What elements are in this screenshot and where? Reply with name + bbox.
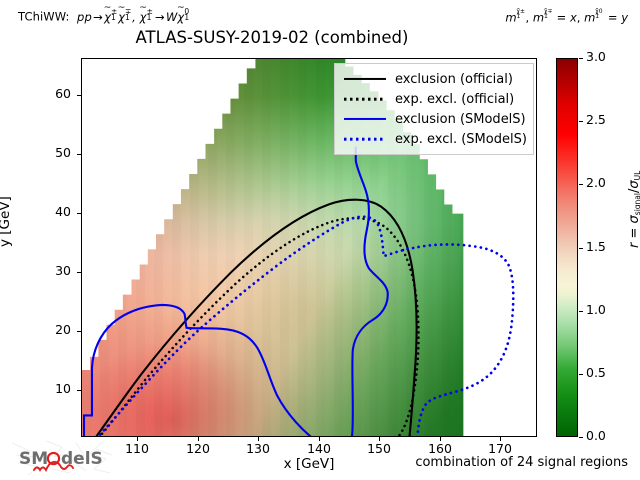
x-tick-label: 160 bbox=[428, 441, 452, 456]
legend: exclusion (official) exp. excl. (officia… bbox=[334, 63, 534, 155]
curve-exclusion-smodels bbox=[84, 147, 388, 437]
legend-key-solid-blue bbox=[342, 113, 388, 125]
colorbar-tick-label: 1.5 bbox=[586, 239, 606, 254]
legend-key-dotted-blue bbox=[342, 133, 388, 145]
legend-item-exp-excl-official: exp. excl. (official) bbox=[342, 89, 526, 109]
x-tick-label: 130 bbox=[246, 441, 270, 456]
legend-item-exclusion-official: exclusion (official) bbox=[342, 69, 526, 89]
y-tick-label: 10 bbox=[55, 381, 71, 396]
x-tick-label: 150 bbox=[367, 441, 391, 456]
process-prefix: TChiWW: bbox=[18, 10, 70, 24]
legend-label: exclusion (SModelS) bbox=[395, 112, 526, 127]
x-tick-label: 140 bbox=[307, 441, 331, 456]
colorbar-gradient bbox=[557, 59, 577, 436]
x-tick-label: 120 bbox=[186, 441, 210, 456]
colorbar bbox=[556, 58, 578, 437]
y-tick-label: 60 bbox=[55, 86, 71, 101]
process-annotation: TChiWW: pp → ~χ±1~χ∓1, ~χ±1 → W~χ01 bbox=[18, 9, 191, 24]
smodels-logo: SM delS bbox=[6, 437, 126, 477]
colorbar-tick-label: 3.0 bbox=[586, 49, 606, 64]
page-title: ATLAS-SUSY-2019-02 (combined) bbox=[0, 28, 640, 47]
colorbar-tick-label: 0.0 bbox=[586, 428, 606, 443]
colorbar-title: r = σsignal/σUL bbox=[627, 171, 640, 248]
legend-item-exp-excl-smodels: exp. excl. (SModelS) bbox=[342, 129, 526, 149]
colorbar-tick-label: 2.0 bbox=[586, 175, 606, 190]
y-axis-title: y [GeV] bbox=[0, 196, 13, 247]
curve-exp-excl-smodels bbox=[85, 217, 513, 437]
y-tick-label: 20 bbox=[55, 322, 71, 337]
y-tick-label: 50 bbox=[55, 145, 71, 160]
legend-label: exp. excl. (SModelS) bbox=[395, 132, 527, 147]
colorbar-tick-label: 1.0 bbox=[586, 302, 606, 317]
mass-assignment-annotation: mχ̃±1, mχ̃∓1 = x, mχ̃01 = y bbox=[505, 10, 628, 25]
curve-exclusion-official bbox=[90, 200, 417, 437]
figure-canvas: TChiWW: pp → ~χ±1~χ∓1, ~χ±1 → W~χ01 mχ̃±… bbox=[0, 0, 640, 480]
process-formula: pp → ~χ±1~χ∓1, ~χ±1 → W~χ01 bbox=[73, 10, 191, 24]
legend-key-dotted-black bbox=[342, 93, 388, 105]
signal-region-caption: combination of 24 signal regions bbox=[415, 455, 628, 470]
colorbar-tick-label: 2.5 bbox=[586, 112, 606, 127]
legend-key-solid-black bbox=[342, 73, 388, 85]
colorbar-tick-label: 0.5 bbox=[586, 365, 606, 380]
x-tick-label: 110 bbox=[125, 441, 149, 456]
y-tick-label: 30 bbox=[55, 263, 71, 278]
legend-label: exclusion (official) bbox=[395, 72, 513, 87]
x-tick-label: 170 bbox=[488, 441, 512, 456]
legend-item-exclusion-smodels: exclusion (SModelS) bbox=[342, 109, 526, 129]
logo-text-sm: SM bbox=[19, 449, 48, 469]
legend-label: exp. excl. (official) bbox=[395, 92, 514, 107]
y-tick-label: 40 bbox=[55, 204, 71, 219]
